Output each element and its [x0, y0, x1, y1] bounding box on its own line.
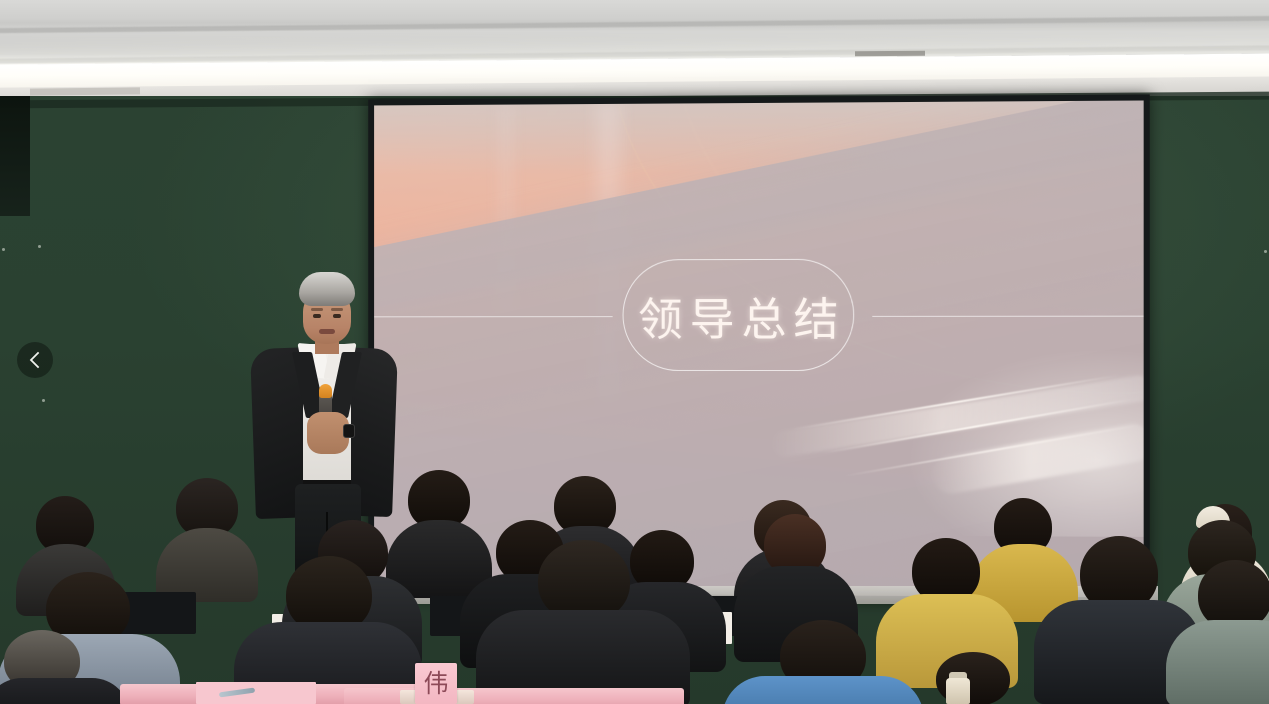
name-placard-text: 伟	[423, 671, 448, 696]
speaker-watch	[343, 424, 355, 438]
speaker-hair	[299, 272, 355, 306]
previous-image-button[interactable]: Previous	[17, 342, 53, 378]
wall-speck	[1264, 250, 1267, 253]
audience-member	[506, 540, 662, 704]
wall-speck	[38, 245, 41, 248]
audience-member	[914, 652, 1034, 704]
audience-member	[748, 620, 898, 704]
table-cloth	[344, 688, 684, 704]
speaker-brow	[331, 308, 343, 311]
slide-title-rule-left	[374, 316, 613, 317]
slide-title-pill: 领导总结	[623, 259, 855, 371]
speaker-brow	[311, 308, 323, 311]
ceiling	[0, 0, 1269, 104]
wall-speck	[42, 399, 45, 402]
audience-member	[1180, 560, 1269, 704]
wall-left-shadow	[0, 96, 30, 216]
ceiling-seam	[0, 16, 1269, 34]
speaker-eye	[313, 314, 321, 318]
chevron-left-icon	[28, 350, 42, 370]
speaker-eye	[333, 314, 341, 318]
slide-title-rule-right	[872, 316, 1143, 318]
microphone-head	[319, 384, 332, 398]
paper-sheet	[196, 682, 316, 704]
slide-title: 领导总结	[631, 282, 846, 347]
speaker-mouth	[319, 329, 335, 334]
conference-photo: 领导总结	[0, 0, 1269, 704]
water-bottle	[946, 678, 970, 704]
ceiling-vent	[855, 51, 925, 56]
name-placard: 伟	[415, 663, 457, 704]
audience-member	[1056, 536, 1180, 704]
audience-member	[0, 630, 112, 704]
ceiling-vent	[30, 87, 140, 95]
audience-member	[160, 478, 252, 598]
wall-speck	[2, 248, 5, 251]
